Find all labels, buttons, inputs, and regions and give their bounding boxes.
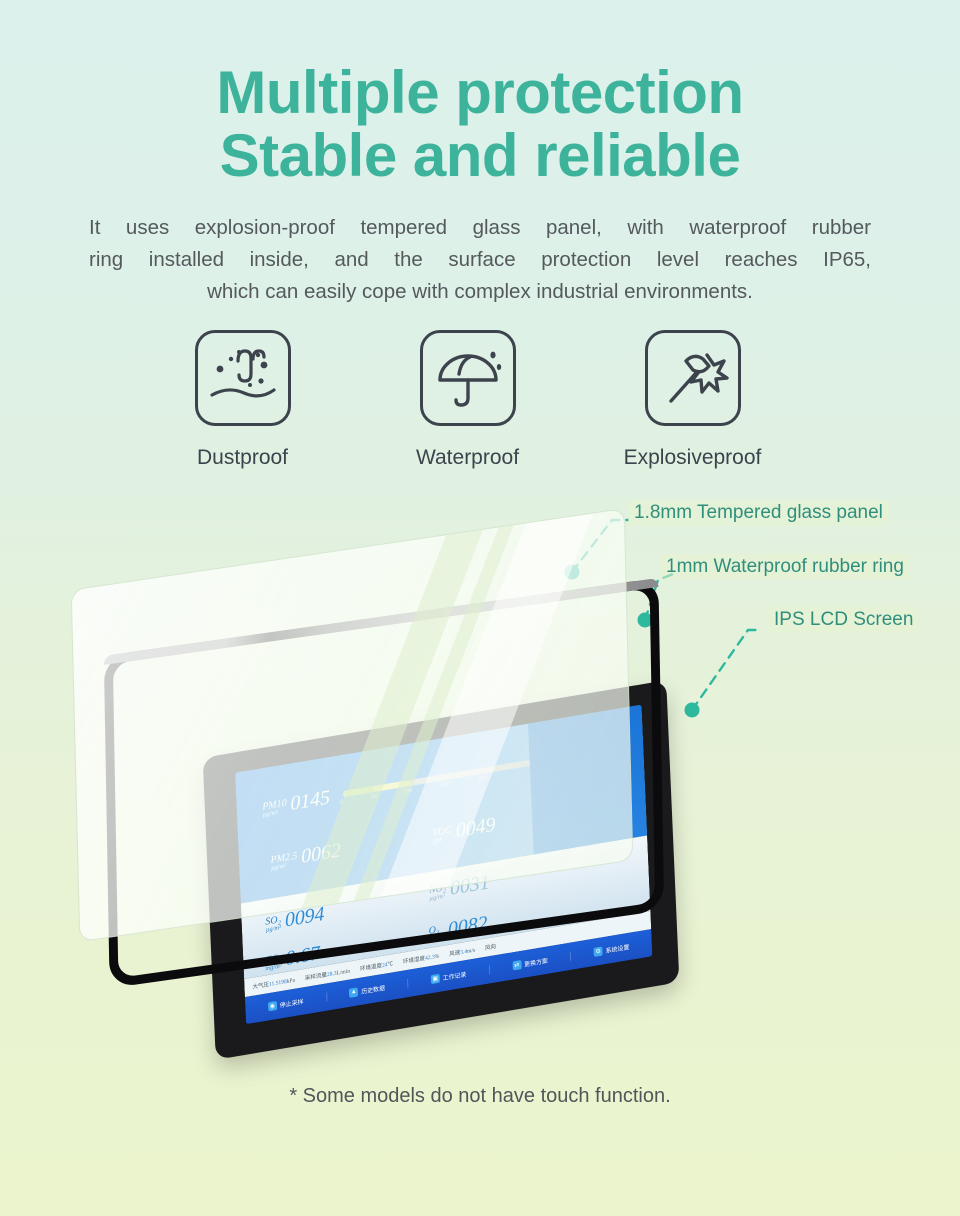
- nav-button-work-record[interactable]: ▣ 工作记录: [408, 965, 490, 988]
- title-line-2: Stable and reliable: [0, 127, 960, 186]
- nav-label: 更换方案: [524, 955, 548, 968]
- status-item: 环境温度24℃: [360, 959, 393, 973]
- nav-button-system-settings[interactable]: ⚙ 系统设置: [571, 938, 652, 961]
- nav-label: 工作记录: [442, 969, 466, 982]
- hammer-icon: [645, 330, 741, 426]
- status-item: 风速3.4m/s: [449, 945, 475, 957]
- status-item: 风向: [485, 942, 496, 952]
- feature-label: Waterproof: [355, 446, 580, 470]
- swap-icon: ⇄: [512, 960, 521, 971]
- nav-label: 历史数据: [361, 983, 385, 996]
- page-title: Multiple protection Stable and reliable: [0, 0, 960, 186]
- nav-button-stop-sampling[interactable]: ◉ 停止采样: [245, 992, 327, 1015]
- feature-list: Dustproof Waterproof: [0, 330, 960, 470]
- nav-button-history-data[interactable]: ▲ 历史数据: [327, 979, 409, 1002]
- subtitle-paragraph: It uses explosion-proof tempered glass p…: [80, 212, 880, 309]
- nav-label: 停止采样: [280, 996, 304, 1009]
- subtitle-line-3: which can easily cope with complex indus…: [80, 276, 880, 308]
- subtitle-line-2: ring installed inside, and the surface p…: [80, 244, 880, 276]
- callout-tempered-glass: 1.8mm Tempered glass panel: [628, 500, 889, 526]
- nav-label: 系统设置: [605, 942, 629, 955]
- feature-label: Dustproof: [130, 446, 355, 470]
- nav-button-change-plan[interactable]: ⇄ 更换方案: [490, 951, 572, 974]
- feature-dustproof: Dustproof: [130, 330, 355, 470]
- exploded-device-diagram: 2024/5/6:00 PM10 µg/m³ 0145 PM2.5 µg/m³: [0, 560, 960, 1060]
- feature-explosiveproof: Explosiveproof: [580, 330, 805, 470]
- status-item: 环境湿度42.3%: [403, 951, 440, 965]
- gear-icon: ⚙: [594, 946, 603, 957]
- chart-icon: ▲: [349, 987, 358, 998]
- footnote: * Some models do not have touch function…: [0, 1085, 960, 1108]
- umbrella-icon: [420, 330, 516, 426]
- stop-icon: ◉: [268, 1001, 277, 1012]
- feature-waterproof: Waterproof: [355, 330, 580, 470]
- dust-icon: [195, 330, 291, 426]
- feature-label: Explosiveproof: [580, 446, 805, 470]
- subtitle-line-1: It uses explosion-proof tempered glass p…: [80, 212, 880, 244]
- document-icon: ▣: [431, 973, 440, 984]
- title-line-1: Multiple protection: [0, 64, 960, 123]
